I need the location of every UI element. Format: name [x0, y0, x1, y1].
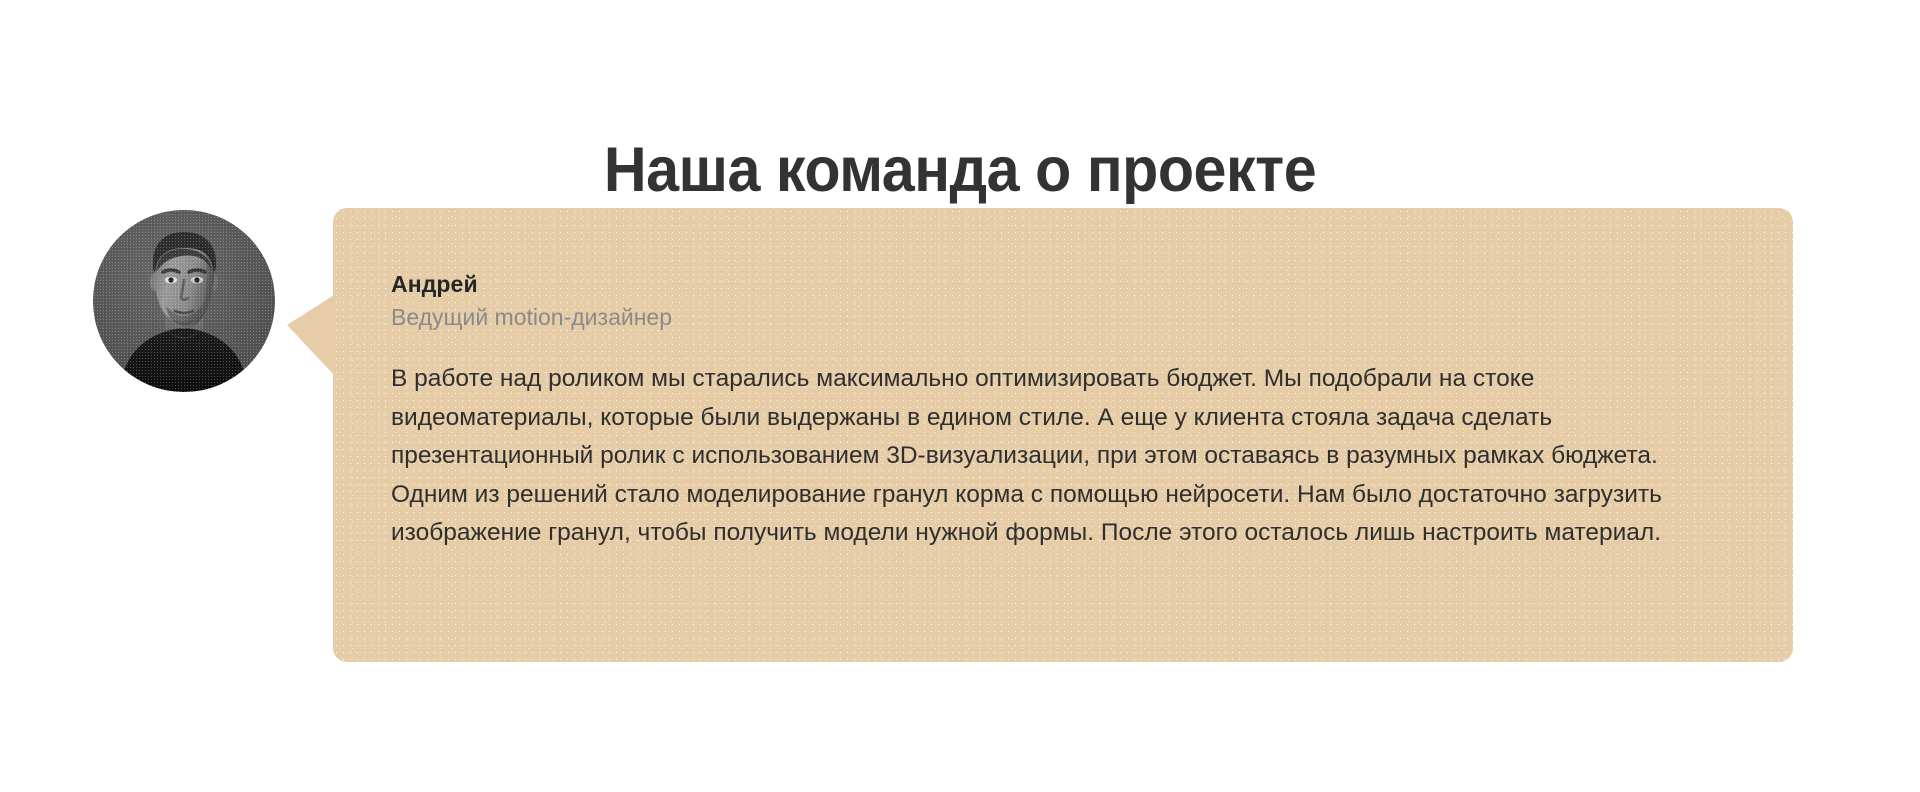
- avatar-photo-icon: [93, 210, 275, 392]
- quote-bubble: Андрей Ведущий motion-дизайнер В работе …: [333, 208, 1793, 662]
- speaker-name: Андрей: [391, 270, 1733, 298]
- testimonial-card: Андрей Ведущий motion-дизайнер В работе …: [0, 0, 1920, 792]
- bubble-tail-icon: [287, 295, 334, 375]
- speaker-role: Ведущий motion-дизайнер: [391, 303, 1733, 332]
- quote-text: В работе над роликом мы старались максим…: [391, 360, 1691, 553]
- testimonial-section: Наша команда о проекте: [0, 0, 1920, 792]
- quote-content: Андрей Ведущий motion-дизайнер В работе …: [391, 270, 1733, 553]
- avatar: [93, 210, 275, 392]
